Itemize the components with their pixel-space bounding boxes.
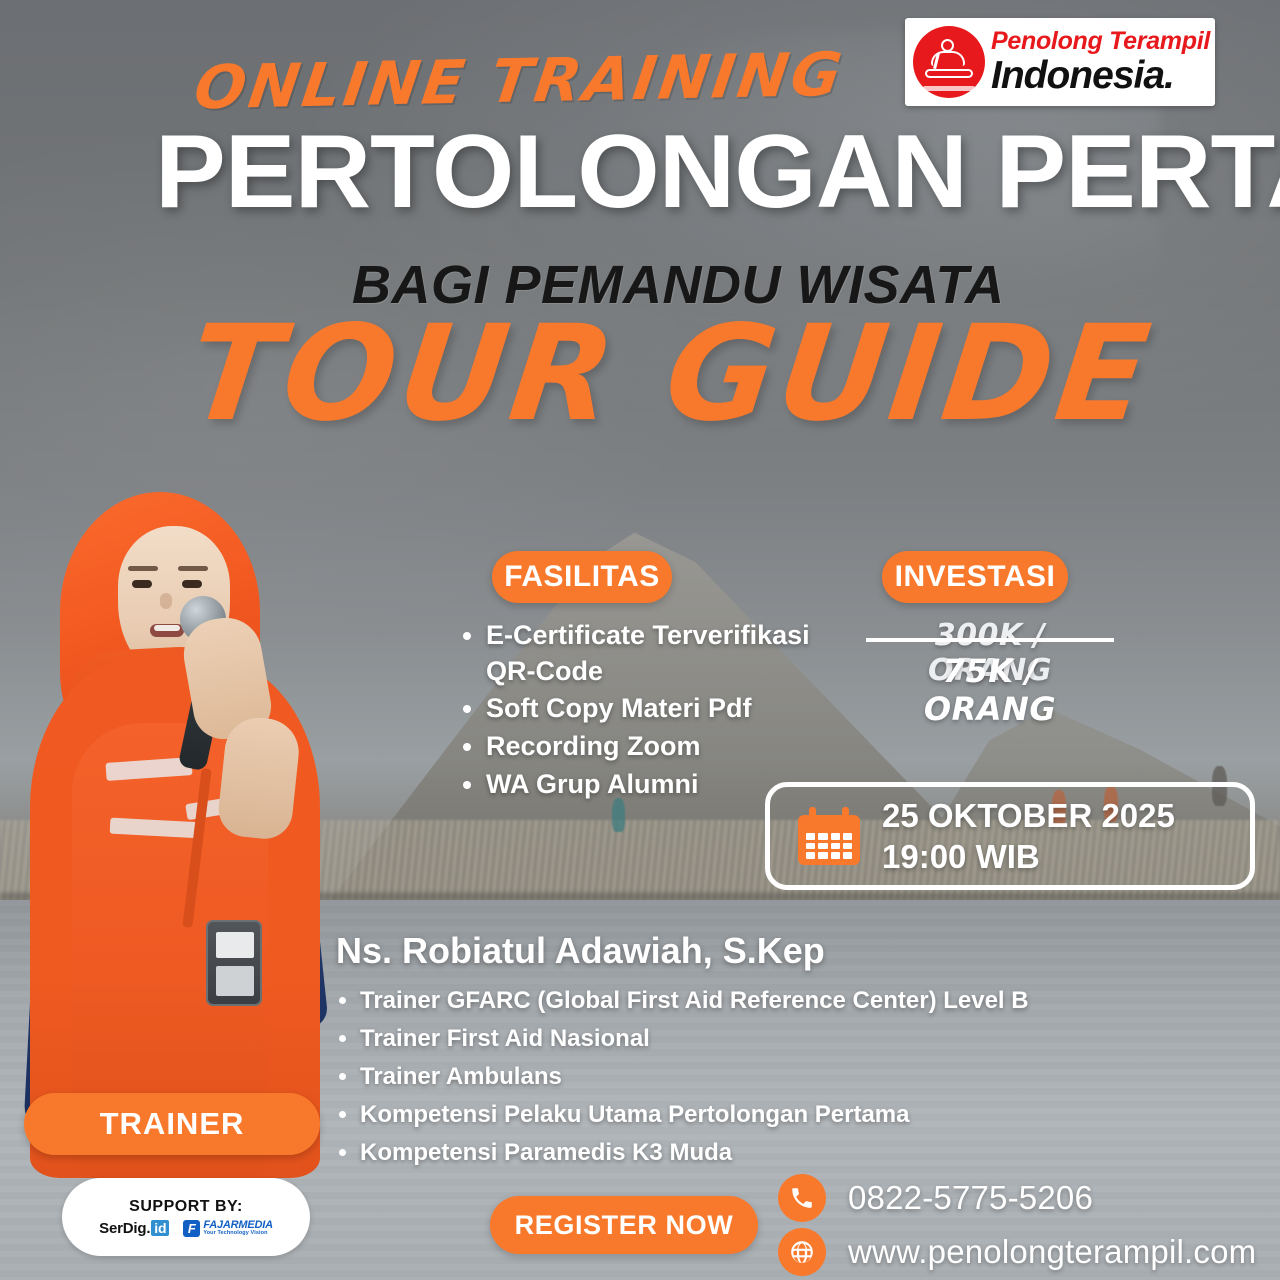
poster-canvas: Penolong Terampil Indonesia. ONLINE TRAI… [0,0,1280,1280]
brand-logo-line2: Indonesia. [991,56,1210,95]
kicker-text: ONLINE TRAINING [190,39,902,124]
schedule-date: 25 OKTOBER 2025 [882,795,1175,836]
support-by-panel: SUPPORT BY: SerDig . id F FAJARMEDIA You… [62,1178,310,1256]
list-item: Soft Copy Materi Pdf [486,691,816,727]
serdig-logo: SerDig . id [99,1220,169,1237]
contact-phone[interactable]: 0822-5775-5206 [778,1174,1093,1222]
list-item: E-Certificate Terverifikasi QR-Code [486,618,816,689]
page-title: PERTOLONGAN PERTAMA [155,120,1175,224]
trainer-photo [10,468,340,1168]
list-item: Kompetensi Paramedis K3 Muda [360,1134,1050,1172]
brand-logo-line1: Penolong Terampil [991,29,1210,54]
serdig-logo-dot: . [146,1220,150,1237]
serdig-logo-badge: id [151,1220,169,1236]
investment-badge: INVESTASI [882,551,1068,603]
trainer-name: Ns. Robiatul Adawiah, S.Kep [336,930,976,972]
support-logo-row: SerDig . id F FAJARMEDIA Your Technology… [99,1220,273,1237]
facilities-badge: FASILITAS [492,551,672,603]
trainer-credentials-list: Trainer GFARC (Global First Aid Referenc… [330,982,1050,1172]
list-item: Trainer GFARC (Global First Aid Referenc… [360,982,1050,1020]
photo-eyebrow [178,566,208,571]
photo-eyebrow [128,566,158,571]
support-by-title: SUPPORT BY: [129,1198,243,1216]
list-item: Kompetensi Pelaku Utama Pertolongan Pert… [360,1096,1050,1134]
photo-eye [132,580,152,588]
fajarmedia-logo-tagline: Your Technology Vision [203,1231,273,1237]
schedule-time: 19:00 WIB [882,836,1175,877]
brand-logo: Penolong Terampil Indonesia. [905,18,1215,106]
website-url: www.penolongterampil.com [848,1233,1256,1271]
contact-website[interactable]: www.penolongterampil.com [778,1228,1256,1276]
schedule-box: 25 OKTOBER 2025 19:00 WIB [765,782,1255,890]
photo-eye [182,580,202,588]
serdig-logo-name: SerDig [99,1220,146,1237]
schedule-text: 25 OKTOBER 2025 19:00 WIB [882,795,1175,878]
phone-icon [778,1174,826,1222]
photo-teeth [154,625,180,631]
list-item: Recording Zoom [486,729,816,765]
facilities-list: E-Certificate Terverifikasi QR-Code Soft… [456,618,816,804]
cpr-first-aid-icon [913,26,985,98]
strikethrough-line [866,638,1114,642]
photo-nose [160,593,172,609]
trainer-badge: TRAINER [24,1093,320,1155]
calendar-icon [798,807,860,865]
globe-icon [778,1228,826,1276]
brand-logo-text: Penolong Terampil Indonesia. [991,29,1210,95]
page-highlight-title: TOUR GUIDE [182,308,1158,440]
list-item: Trainer First Aid Nasional [360,1020,1050,1058]
photo-id-badge [206,920,262,1006]
price-new: 75K / ORANG [880,652,1100,728]
phone-number: 0822-5775-5206 [848,1179,1093,1217]
fajarmedia-mark-icon: F [183,1220,200,1237]
photo-hand [216,714,302,841]
register-now-button[interactable]: REGISTER NOW [490,1196,758,1254]
fajarmedia-logo: F FAJARMEDIA Your Technology Vision [183,1220,273,1237]
list-item: Trainer Ambulans [360,1058,1050,1096]
